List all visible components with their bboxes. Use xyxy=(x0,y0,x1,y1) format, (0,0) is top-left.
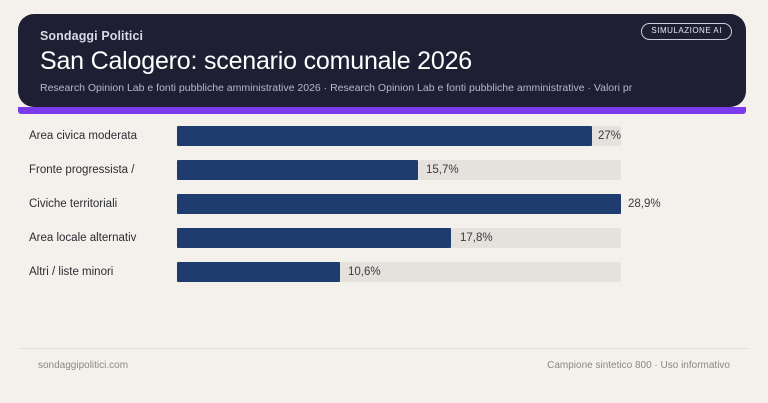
bar-value: 27% xyxy=(598,126,621,146)
bar-value: 17,8% xyxy=(460,228,493,248)
card-footer: sondaggipolitici.com Campione sintetico … xyxy=(20,356,748,376)
bar-track xyxy=(177,160,621,180)
header-subtitle: Research Opinion Lab e fonti pubbliche a… xyxy=(40,81,730,95)
bar-label: Area civica moderata xyxy=(29,126,179,146)
card-header: Sondaggi Politici San Calogero: scenario… xyxy=(18,14,746,107)
bar-track xyxy=(177,228,621,248)
page-title: San Calogero: scenario comunale 2026 xyxy=(40,47,724,76)
simulation-badge: SIMULAZIONE AI xyxy=(641,23,732,40)
bar-value: 15,7% xyxy=(426,160,459,180)
brand-eyebrow: Sondaggi Politici xyxy=(40,28,724,44)
accent-divider xyxy=(18,107,746,114)
bar-label: Altri / liste minori xyxy=(29,262,179,282)
footer-note: Campione sintetico 800 · Uso informativo xyxy=(547,356,730,376)
bar-fill xyxy=(177,194,621,214)
bar-fill xyxy=(177,160,418,180)
bar-track xyxy=(177,262,621,282)
chart-row: Area locale alternativ 17,8% xyxy=(18,228,750,262)
bar-chart: Area civica moderata 27% Fronte progress… xyxy=(18,126,750,306)
chart-row: Area civica moderata 27% xyxy=(18,126,750,160)
bar-value: 10,6% xyxy=(348,262,381,282)
chart-row: Altri / liste minori 10,6% xyxy=(18,262,750,296)
bar-fill xyxy=(177,262,340,282)
footer-divider xyxy=(20,348,748,349)
chart-row: Civiche territoriali 28,9% xyxy=(18,194,750,228)
poll-card: Sondaggi Politici San Calogero: scenario… xyxy=(0,0,768,403)
bar-fill xyxy=(177,228,451,248)
bar-track xyxy=(177,126,621,146)
bar-fill xyxy=(177,126,592,146)
bar-label: Area locale alternativ xyxy=(29,228,179,248)
bar-label: Civiche territoriali xyxy=(29,194,179,214)
bar-value: 28,9% xyxy=(628,194,661,214)
bar-label: Fronte progressista / xyxy=(29,160,179,180)
bar-track xyxy=(177,194,621,214)
chart-row: Fronte progressista / 15,7% xyxy=(18,160,750,194)
footer-source: sondaggipolitici.com xyxy=(38,356,128,376)
